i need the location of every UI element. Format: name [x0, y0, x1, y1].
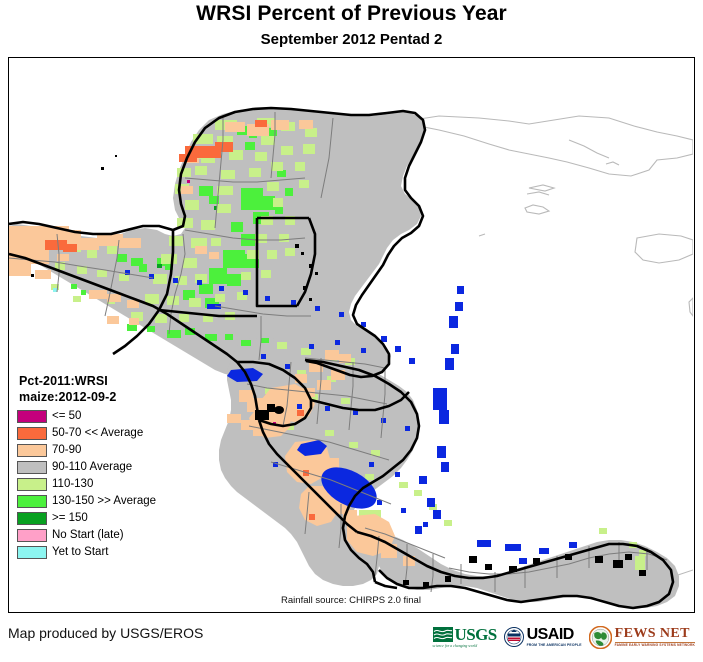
map-page: WRSI Percent of Previous Year September …	[0, 0, 703, 662]
legend-heading-line1: Pct-2011:WRSI	[19, 375, 207, 388]
legend-item-50-70[interactable]: 50-70 << Average	[17, 425, 207, 442]
fews-net-wordmark: FEWS NET	[615, 627, 690, 641]
legend-label-gte-150: >= 150	[52, 513, 88, 525]
legend-swatch-90-110	[17, 461, 47, 474]
usaid-wordmark: USAID	[527, 627, 574, 643]
usaid-logo[interactable]: USAID FROM THE AMERICAN PEOPLE	[504, 622, 582, 652]
class-patches-yet-to-start	[53, 288, 57, 292]
usaid-seal-icon	[504, 627, 524, 647]
legend-item-no-start[interactable]: No Start (late)	[17, 527, 207, 544]
legend-swatch-130-150	[17, 495, 47, 508]
legend-swatch-gte-150	[17, 512, 47, 525]
legend-label-yet-to-start: Yet to Start	[52, 547, 108, 559]
legend-item-90-110[interactable]: 90-110 Average	[17, 459, 207, 476]
globe-icon	[589, 626, 612, 649]
legend-label-50-70: 50-70 << Average	[52, 428, 143, 440]
map-speck	[115, 155, 117, 157]
legend-item-yet-to-start[interactable]: Yet to Start	[17, 544, 207, 561]
legend-swatch-70-90	[17, 444, 47, 457]
fews-net-logo[interactable]: FEWS NET FAMINE EARLY WARNING SYSTEMS NE…	[589, 622, 695, 652]
legend-swatch-no-start	[17, 529, 47, 542]
legend-item-130-150[interactable]: 130-150 >> Average	[17, 493, 207, 510]
map-legend: Pct-2011:WRSI maize:2012-09-2 <= 50 50-7…	[17, 375, 207, 561]
legend-item-lte-50[interactable]: <= 50	[17, 408, 207, 425]
legend-heading-line2: maize:2012-09-2	[19, 391, 207, 404]
fews-net-tagline: FAMINE EARLY WARNING SYSTEMS NETWORK	[615, 644, 695, 647]
usgs-logo[interactable]: USGS science for a changing world	[433, 622, 497, 652]
rainfall-source-label: Rainfall source: CHIRPS 2.0 final	[281, 595, 421, 606]
usgs-wave-icon	[433, 627, 453, 642]
legend-swatch-110-130	[17, 478, 47, 491]
legend-item-70-90[interactable]: 70-90	[17, 442, 207, 459]
legend-label-no-start: No Start (late)	[52, 530, 124, 542]
legend-item-gte-150[interactable]: >= 150	[17, 510, 207, 527]
map-credit: Map produced by USGS/EROS	[8, 625, 203, 641]
legend-label-130-150: 130-150 >> Average	[52, 496, 156, 508]
legend-label-110-130: 110-130	[52, 479, 93, 491]
legend-label-90-110: 90-110 Average	[52, 462, 132, 474]
legend-label-lte-50: <= 50	[52, 411, 81, 423]
page-subtitle: September 2012 Pentad 2	[0, 31, 703, 48]
map-frame[interactable]: Rainfall source: CHIRPS 2.0 final Pct-20…	[8, 57, 695, 613]
page-title: WRSI Percent of Previous Year	[0, 2, 703, 26]
map-speck	[31, 274, 34, 277]
legend-swatch-50-70	[17, 427, 47, 440]
usgs-wordmark: USGS	[455, 626, 497, 643]
legend-item-110-130[interactable]: 110-130	[17, 476, 207, 493]
legend-swatch-lte-50	[17, 410, 47, 423]
map-speck	[101, 167, 104, 170]
legend-swatch-yet-to-start	[17, 546, 47, 559]
usgs-tagline: science for a changing world	[433, 644, 478, 648]
agency-logos: USGS science for a changing world USAID …	[433, 620, 695, 654]
usaid-tagline: FROM THE AMERICAN PEOPLE	[527, 644, 582, 647]
legend-label-70-90: 70-90	[52, 445, 81, 457]
